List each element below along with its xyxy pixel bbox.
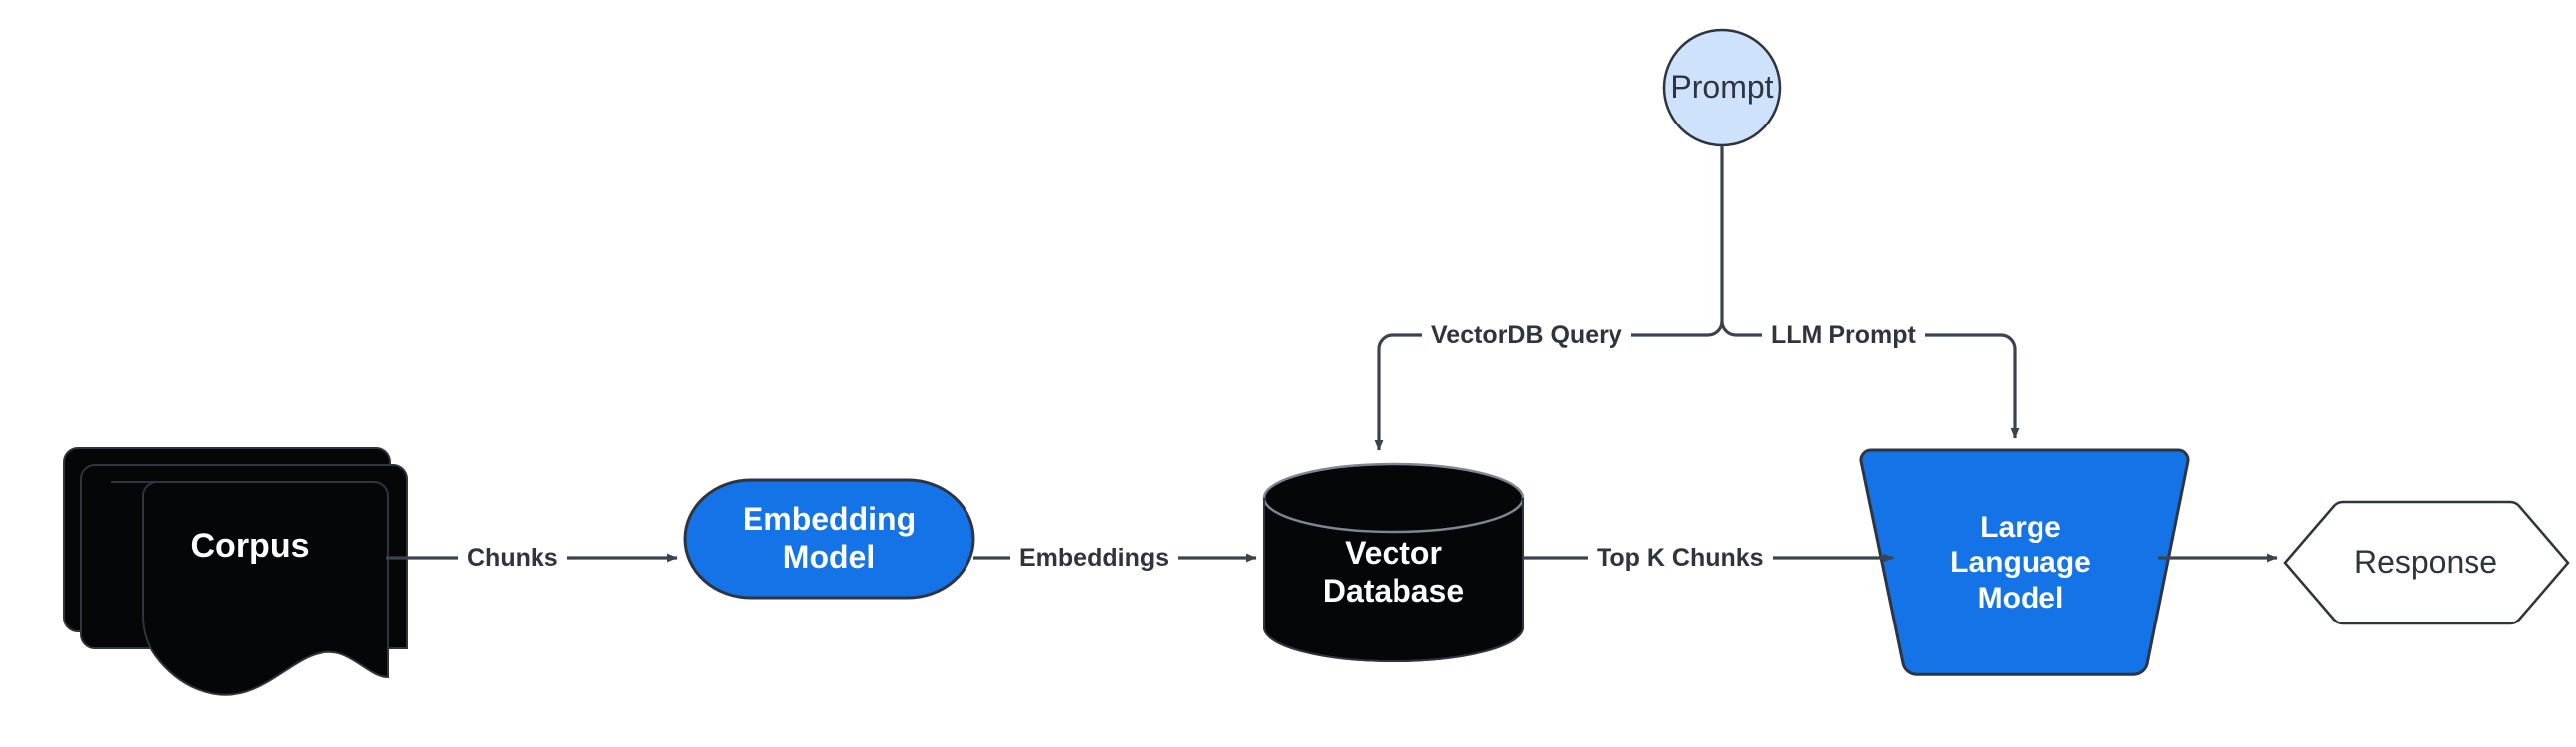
node-vector-database-shape (1264, 464, 1523, 661)
edge-prompt-to-vectordb (1379, 321, 1722, 450)
diagram-canvas (0, 0, 2576, 747)
cylinder-top (1264, 464, 1523, 532)
node-embedding-model-shape (685, 480, 973, 598)
corpus-layer-front (111, 482, 388, 695)
node-response-shape (2285, 502, 2568, 623)
node-prompt-shape (1664, 30, 1780, 145)
rag-pipeline-diagram: Corpus Embedding Model Vector Database L… (0, 0, 2576, 747)
node-large-language-model-shape (1861, 450, 2188, 674)
edge-prompt-to-llm (1722, 321, 2015, 438)
node-corpus-shape (64, 448, 407, 695)
